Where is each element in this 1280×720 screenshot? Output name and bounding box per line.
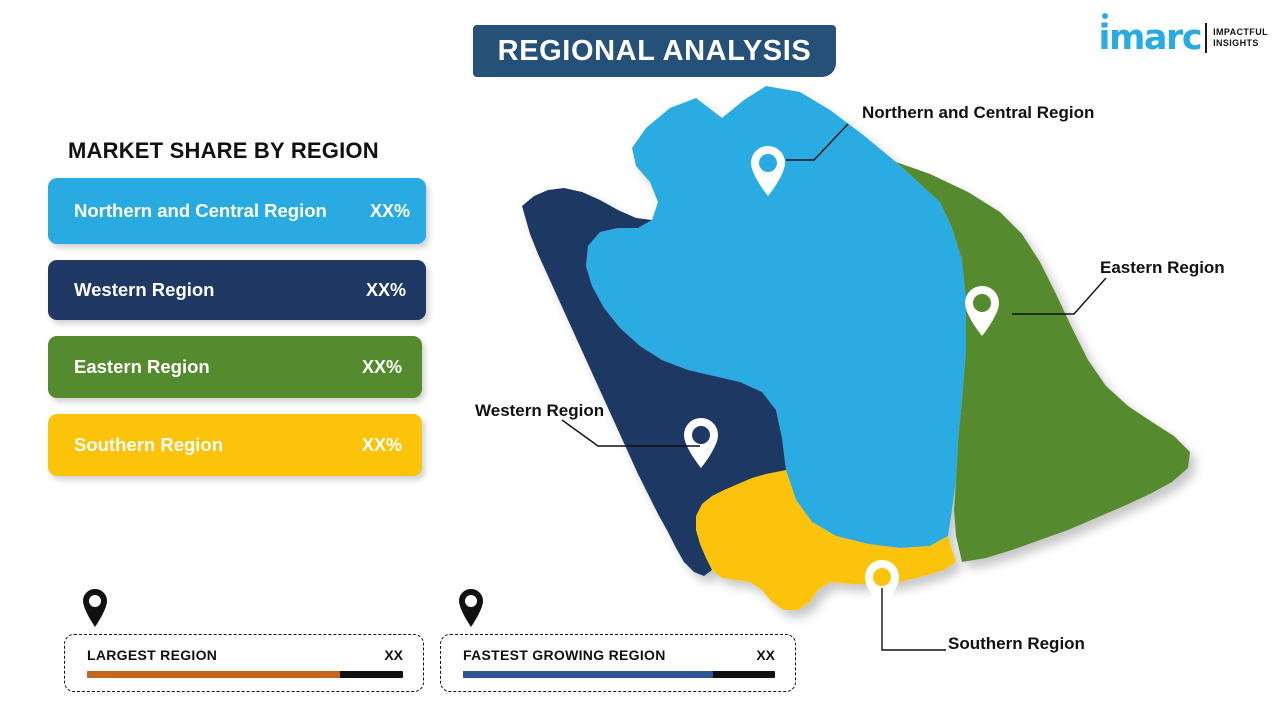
largest-region-card: LARGEST REGION XX	[64, 634, 424, 692]
map-label-northern-central: Northern and Central Region	[862, 103, 1094, 123]
largest-region-row: LARGEST REGION XX	[65, 635, 423, 663]
infographic-canvas: REGIONAL ANALYSIS imarc IMPACTFUL INSIGH…	[0, 0, 1280, 720]
fastest-growing-region-progress-fill	[463, 671, 713, 678]
saudi-arabia-region-map	[500, 70, 1240, 650]
logo-wordmark: imarc	[1098, 21, 1201, 56]
largest-region-progress-fill	[87, 671, 340, 678]
largest-region-label: LARGEST REGION	[87, 647, 217, 663]
largest-region-progress-track	[87, 671, 403, 678]
map-label-southern: Southern Region	[948, 634, 1085, 654]
page-title: REGIONAL ANALYSIS	[498, 35, 812, 68]
map-label-western: Western Region	[475, 401, 604, 421]
logo-tagline-line1: IMPACTFUL	[1213, 27, 1268, 38]
logo-divider	[1205, 23, 1207, 53]
legend-row-value: XX%	[362, 435, 402, 456]
legend-row-value: XX%	[362, 357, 402, 378]
largest-region-value: XX	[384, 647, 403, 663]
map-regions	[522, 86, 1190, 610]
imarc-logo: imarc IMPACTFUL INSIGHTS	[1098, 16, 1268, 60]
legend-row-eastern[interactable]: Eastern Region XX%	[48, 336, 422, 398]
legend-row-label: Southern Region	[74, 434, 362, 457]
fastest-growing-region-pin-icon	[456, 588, 486, 628]
legend-row-value: XX%	[370, 201, 410, 222]
legend-row-value: XX%	[366, 280, 406, 301]
legend-row-southern[interactable]: Southern Region XX%	[48, 414, 422, 476]
logo-wordmark-wrap: imarc	[1098, 21, 1201, 56]
map-label-eastern: Eastern Region	[1100, 258, 1225, 278]
legend-row-western[interactable]: Western Region XX%	[48, 260, 426, 320]
market-share-heading: MARKET SHARE BY REGION	[68, 138, 379, 164]
logo-tagline: IMPACTFUL INSIGHTS	[1213, 27, 1268, 50]
legend-row-northern-central[interactable]: Northern and Central Region XX%	[48, 178, 426, 244]
logo-tagline-line2: INSIGHTS	[1213, 38, 1268, 49]
legend-row-label: Northern and Central Region	[74, 200, 370, 223]
fastest-growing-region-progress-track	[463, 671, 775, 678]
map-pin-southern	[865, 560, 899, 610]
largest-region-pin-icon	[80, 588, 110, 628]
legend-row-label: Eastern Region	[74, 356, 362, 379]
legend-row-label: Western Region	[74, 279, 366, 302]
market-share-legend: Northern and Central Region XX% Western …	[48, 178, 438, 492]
